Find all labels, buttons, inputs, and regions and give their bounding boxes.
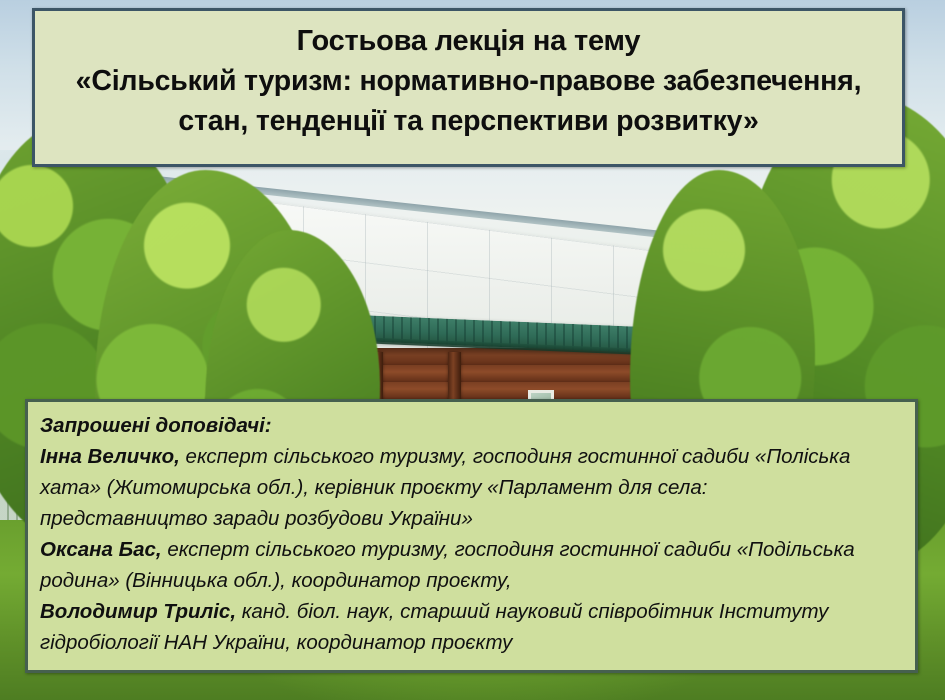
title-line-2: «Сільський туризм: нормативно-правове за… <box>49 61 888 101</box>
title-card: Гостьова лекція на тему «Сільський туриз… <box>32 8 905 167</box>
speaker-role: канд. біол. наук, старший науковий співр… <box>236 600 828 623</box>
speakers-heading: Запрошені доповідачі: <box>40 410 905 441</box>
speakers-card: Запрошені доповідачі: Інна Величко, експ… <box>25 399 918 673</box>
speaker-entry-line: Оксана Бас, експерт сільського туризму, … <box>40 534 905 565</box>
speaker-name: Оксана Бас, <box>40 538 162 561</box>
title-line-1: Гостьова лекція на тему <box>49 21 888 61</box>
speaker-entry-line: хата» (Житомирська обл.), керівник проєк… <box>40 472 905 503</box>
speaker-role: експерт сільського туризму, господиня го… <box>162 538 855 561</box>
speaker-role: експерт сільського туризму, господиня го… <box>180 445 851 468</box>
speaker-name: Володимир Триліс, <box>40 600 236 623</box>
speaker-entry-line: представництво заради розбудови України» <box>40 503 905 534</box>
speaker-entry-line: гідробіології НАН України, координатор п… <box>40 627 905 658</box>
speaker-entry-line: Інна Величко, експерт сільського туризму… <box>40 441 905 472</box>
speaker-entry-line: Володимир Триліс, канд. біол. наук, стар… <box>40 596 905 627</box>
presentation-slide: Гостьова лекція на тему «Сільський туриз… <box>0 0 945 700</box>
speaker-name: Інна Величко, <box>40 445 180 468</box>
speaker-entry-line: родина» (Вінницька обл.), координатор пр… <box>40 565 905 596</box>
title-line-3: стан, тенденції та перспективи розвитку» <box>49 101 888 141</box>
